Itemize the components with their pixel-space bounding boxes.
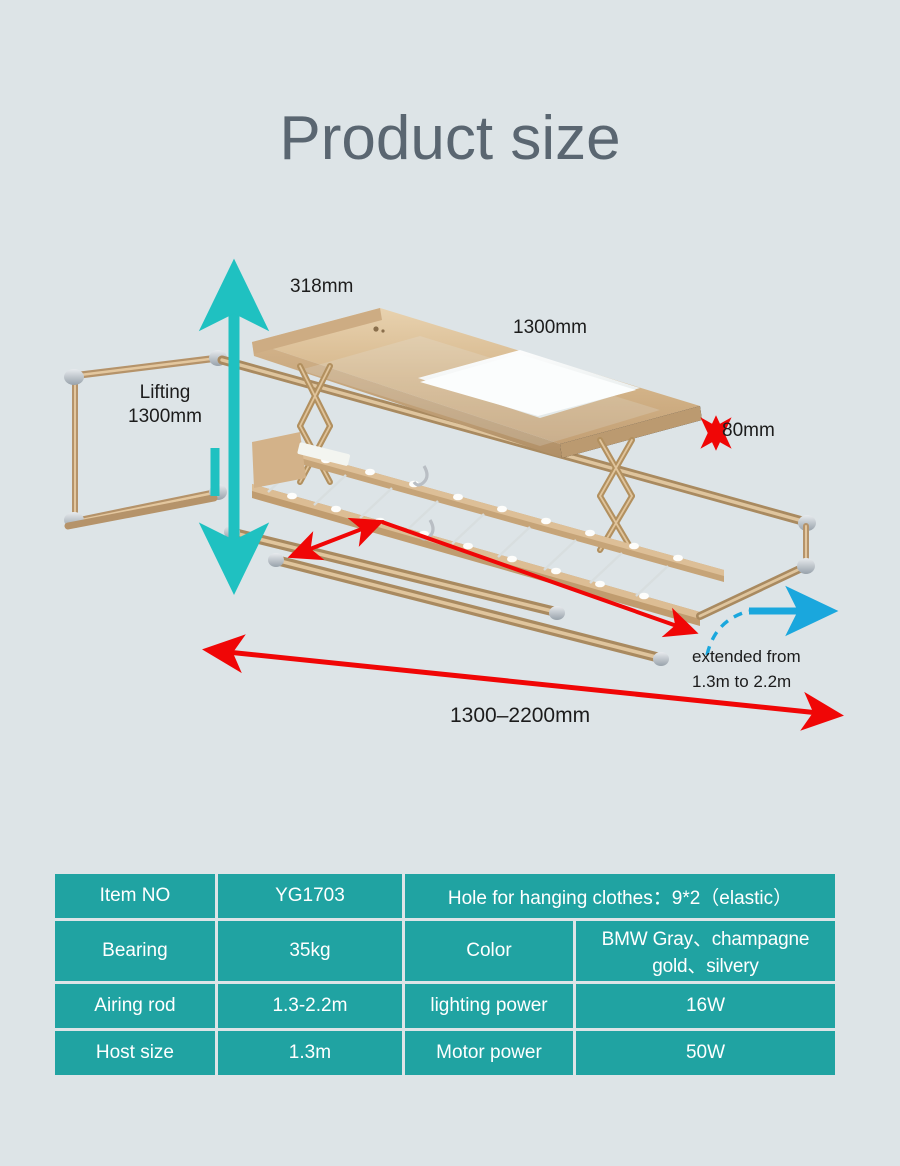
spec-table-body: Item NO YG1703 Hole for hanging clothes：… [55,874,835,1075]
label-width-range: 1300–2200mm [450,703,590,729]
scissor-lift-right [600,440,632,550]
scissor-lift-right-highlight [600,440,632,550]
product-size-page: Product size [0,0,900,1166]
spec-right-label: Color [405,921,573,981]
label-extension-line2: 1.3m to 2.2m [692,670,822,695]
spec-value: 35kg [218,921,402,981]
label-lifting-value: 1300mm [120,405,210,429]
table-row: Item NO YG1703 Hole for hanging clothes：… [55,874,835,918]
label-length-top: 1300mm [513,316,587,340]
product-graphic [64,308,816,666]
spec-label: Airing rod [55,984,215,1028]
spec-label: Host size [55,1031,215,1075]
spec-value: 1.3m [218,1031,402,1075]
table-row: Host size 1.3m Motor power 50W [55,1031,835,1075]
label-extension-line1: extended from [692,645,822,670]
spec-hole-label: Hole for hanging clothes：9*2（elastic） [405,874,835,918]
label-depth: 318mm [290,275,353,299]
spec-value: 1.3-2.2m [218,984,402,1028]
spec-right-value: BMW Gray、champagne gold、silvery [576,921,835,981]
label-lifting: Lifting 1300mm [120,381,210,429]
spec-value: YG1703 [218,874,402,918]
label-lifting-title: Lifting [120,381,210,405]
spec-label: Bearing [55,921,215,981]
label-thickness: 80mm [722,419,775,443]
label-extension: extended from 1.3m to 2.2m [692,645,822,694]
spec-right-label: lighting power [405,984,573,1028]
page-title: Product size [0,108,900,170]
spec-right-label: Motor power [405,1031,573,1075]
table-row: Bearing 35kg Color BMW Gray、champagne go… [55,921,835,981]
spec-right-value: 50W [576,1031,835,1075]
spec-right-value: 16W [576,984,835,1028]
spec-table: Item NO YG1703 Hole for hanging clothes：… [52,871,838,1078]
spec-label: Item NO [55,874,215,918]
arrow-318mm [292,522,380,556]
table-row: Airing rod 1.3-2.2m lighting power 16W [55,984,835,1028]
